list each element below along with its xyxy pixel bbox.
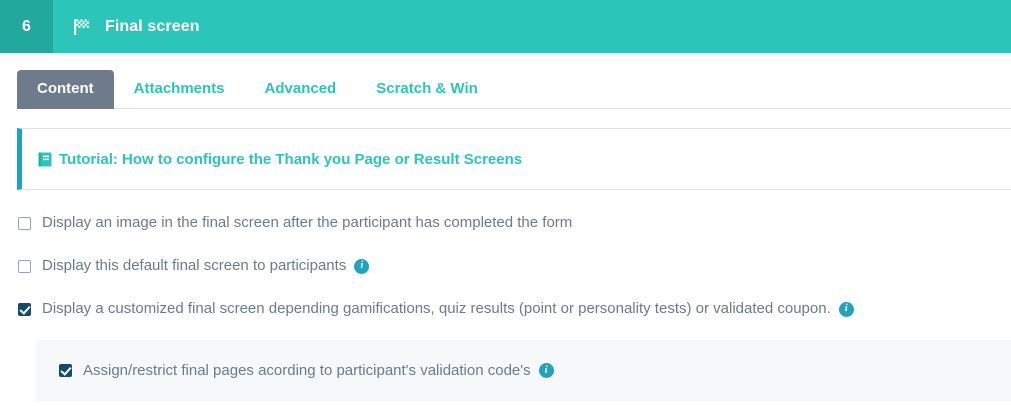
option-row-customized-final-screen[interactable]: Display a customized final screen depend… [18,291,1011,327]
option-label-display-image: Display an image in the final screen aft… [42,213,572,233]
step-header: 6 [0,0,1011,53]
checkbox-assign-restrict-final-pages[interactable] [59,364,72,377]
tab-content[interactable]: Content [17,70,114,109]
tab-attachments[interactable]: Attachments [114,70,245,109]
tab-advanced[interactable]: Advanced [245,70,357,109]
checkbox-display-image[interactable] [18,217,31,230]
checkbox-default-final-screen[interactable] [18,260,31,273]
option-label-default-final-screen: Display this default final screen to par… [42,256,346,276]
tutorial-link[interactable]: Tutorial: How to configure the Thank you… [59,151,522,168]
info-icon-assign-restrict-final-pages[interactable]: i [539,363,554,378]
info-icon-default-final-screen[interactable]: i [354,259,369,274]
step-header-main: Final screen [53,0,200,53]
page-title: Final screen [105,18,200,36]
option-label-customized-final-screen: Display a customized final screen depend… [42,299,831,319]
option-label-assign-restrict-final-pages: Assign/restrict final pages acording to … [83,361,531,381]
info-icon-customized-final-screen[interactable]: i [839,302,854,317]
checkered-flag-icon [71,16,93,38]
checkbox-customized-final-screen[interactable] [18,303,31,316]
step-number-badge: 6 [0,0,53,53]
option-row-default-final-screen[interactable]: Display this default final screen to par… [18,248,1011,284]
sub-option-panel: Assign/restrict final pages acording to … [36,340,1011,401]
tutorial-banner[interactable]: Tutorial: How to configure the Thank you… [17,128,1011,190]
options-list: Display an image in the final screen aft… [0,205,1011,401]
book-icon [37,151,54,168]
tab-bar: Content Attachments Advanced Scratch & W… [0,53,1011,109]
option-row-display-image[interactable]: Display an image in the final screen aft… [18,205,1011,241]
tab-scratch-and-win[interactable]: Scratch & Win [356,70,498,109]
tutorial-banner-wrapper: Tutorial: How to configure the Thank you… [0,128,1011,190]
